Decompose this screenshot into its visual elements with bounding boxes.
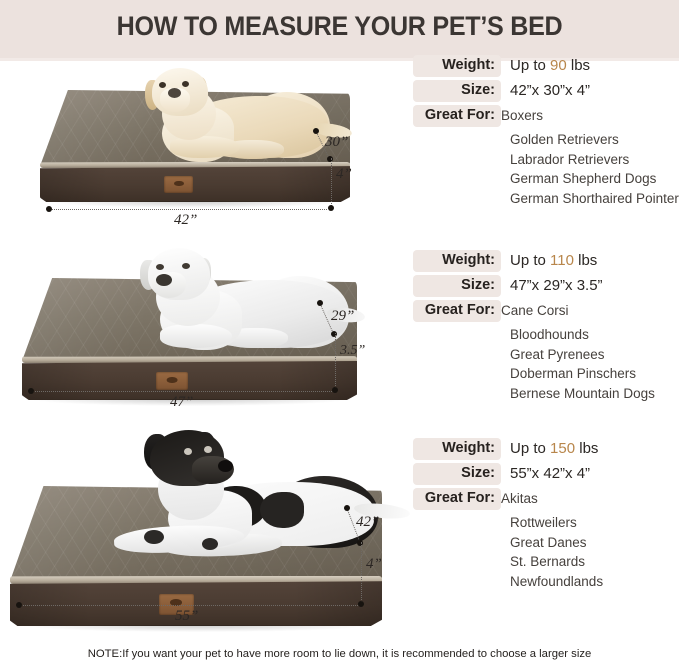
breed-item: Boxers: [501, 106, 543, 126]
breed-item: Akitas: [501, 489, 538, 509]
dim-leader-height: [335, 333, 336, 390]
spec-label-size: Size:: [413, 275, 501, 297]
breed-item: St. Bernards: [510, 552, 679, 572]
weight-suffix: lbs: [575, 440, 598, 457]
spec-label-size: Size:: [413, 463, 501, 485]
dim-dot-height-bottom: [358, 601, 364, 607]
infographic-page: HOW TO MEASURE YOUR PET’S BED: [0, 0, 679, 668]
spec-panel-large: Weight: Up to 150 lbs Size: 55”x 42”x 4”…: [413, 438, 679, 592]
dim-label-height: 3.5”: [340, 343, 365, 359]
dim-label-width: 29”: [331, 308, 354, 325]
dim-label-length: 47”: [170, 394, 193, 411]
spec-row-size: Size: 55”x 42”x 4”: [413, 463, 679, 485]
dim-leader-height: [361, 542, 362, 604]
spec-label-great-for: Great For:: [413, 488, 501, 510]
spec-value-weight: Up to 90 lbs: [501, 57, 590, 74]
dim-dot-width-top: [313, 128, 319, 134]
weight-prefix: Up to: [510, 57, 550, 74]
spec-value-size: 47”x 29”x 3.5”: [501, 277, 603, 294]
weight-prefix: Up to: [510, 252, 550, 269]
bed-drop-shadow: [49, 201, 340, 208]
bed-illustration-medium: [22, 278, 357, 400]
bed-base: [40, 166, 350, 202]
weight-value: 150: [550, 440, 575, 457]
breed-item: Great Danes: [510, 533, 679, 553]
spec-value-weight: Up to 110 lbs: [501, 252, 597, 269]
dim-dot-width-bottom: [327, 156, 333, 162]
dim-dot-length-left: [46, 206, 52, 212]
bed-illustration-small: [40, 90, 350, 202]
brand-logo-patch-icon: [156, 372, 188, 390]
breed-item: Rottweilers: [510, 513, 679, 533]
spec-value-weight: Up to 150 lbs: [501, 440, 598, 457]
page-title: HOW TO MEASURE YOUR PET’S BED: [24, 11, 655, 42]
dim-dot-height-bottom: [332, 387, 338, 393]
dog-photo-great-dane: [114, 430, 382, 568]
spec-label-size: Size:: [413, 80, 501, 102]
spec-row-weight: Weight: Up to 110 lbs: [413, 250, 679, 272]
spec-label-weight: Weight:: [413, 55, 501, 77]
breed-item: Bernese Mountain Dogs: [510, 384, 679, 404]
weight-suffix: lbs: [567, 57, 590, 74]
dim-dot-length-left: [28, 388, 34, 394]
dim-label-height: 4”: [366, 556, 382, 573]
breed-item: Cane Corsi: [501, 301, 569, 321]
spec-row-size: Size: 42”x 30”x 4”: [413, 80, 679, 102]
spec-label-weight: Weight:: [413, 438, 501, 460]
dim-leader-length: [31, 391, 332, 392]
dim-leader-length: [19, 605, 358, 606]
spec-row-great-for: Great For: Akitas: [413, 488, 679, 510]
dim-dot-width-bottom: [357, 540, 363, 546]
spec-label-weight: Weight:: [413, 250, 501, 272]
breed-list: Bloodhounds Great Pyrenees Doberman Pins…: [413, 325, 679, 404]
dim-label-length: 42”: [174, 212, 197, 229]
dog-photo-labrador-retriever: [126, 66, 331, 162]
breed-item: Golden Retrievers: [510, 130, 679, 150]
breed-item: German Shorthaired Pointers: [510, 189, 679, 209]
dim-label-height: 4”: [336, 166, 352, 183]
spec-row-weight: Weight: Up to 90 lbs: [413, 55, 679, 77]
spec-value-size: 55”x 42”x 4”: [501, 465, 590, 482]
weight-prefix: Up to: [510, 440, 550, 457]
spec-value-size: 42”x 30”x 4”: [501, 82, 590, 99]
breed-item: Doberman Pinschers: [510, 364, 679, 384]
dim-label-width: 42”: [356, 514, 379, 531]
spec-label-great-for: Great For:: [413, 105, 501, 127]
bed-drop-shadow: [21, 625, 371, 632]
spec-panel-medium: Weight: Up to 110 lbs Size: 47”x 29”x 3.…: [413, 250, 679, 404]
dim-leader-length: [49, 209, 327, 210]
weight-suffix: lbs: [574, 252, 597, 269]
breed-item: German Shepherd Dogs: [510, 169, 679, 189]
dim-label-width: 30”: [325, 134, 348, 151]
breed-list: Rottweilers Great Danes St. Bernards New…: [413, 513, 679, 592]
dim-leader-height: [331, 158, 332, 208]
spec-row-great-for: Great For: Cane Corsi: [413, 300, 679, 322]
breed-item: Newfoundlands: [510, 572, 679, 592]
spec-row-size: Size: 47”x 29”x 3.5”: [413, 275, 679, 297]
spec-row-weight: Weight: Up to 150 lbs: [413, 438, 679, 460]
dim-dot-height-bottom: [328, 205, 334, 211]
breed-item: Labrador Retrievers: [510, 150, 679, 170]
spec-row-great-for: Great For: Boxers: [413, 105, 679, 127]
weight-value: 110: [550, 252, 574, 269]
breed-item: Bloodhounds: [510, 325, 679, 345]
dim-dot-width-top: [317, 300, 323, 306]
spec-label-great-for: Great For:: [413, 300, 501, 322]
dim-label-length: 55”: [175, 608, 198, 625]
weight-value: 90: [550, 57, 567, 74]
footer-note: NOTE:If you want your pet to have more r…: [0, 648, 679, 660]
dim-dot-width-top: [344, 505, 350, 511]
breed-item: Great Pyrenees: [510, 345, 679, 365]
breed-list: Golden Retrievers Labrador Retrievers Ge…: [413, 130, 679, 209]
brand-logo-patch-icon: [164, 176, 193, 193]
dim-dot-length-left: [16, 602, 22, 608]
dim-dot-width-bottom: [331, 331, 337, 337]
spec-panel-small: Weight: Up to 90 lbs Size: 42”x 30”x 4” …: [413, 55, 679, 209]
